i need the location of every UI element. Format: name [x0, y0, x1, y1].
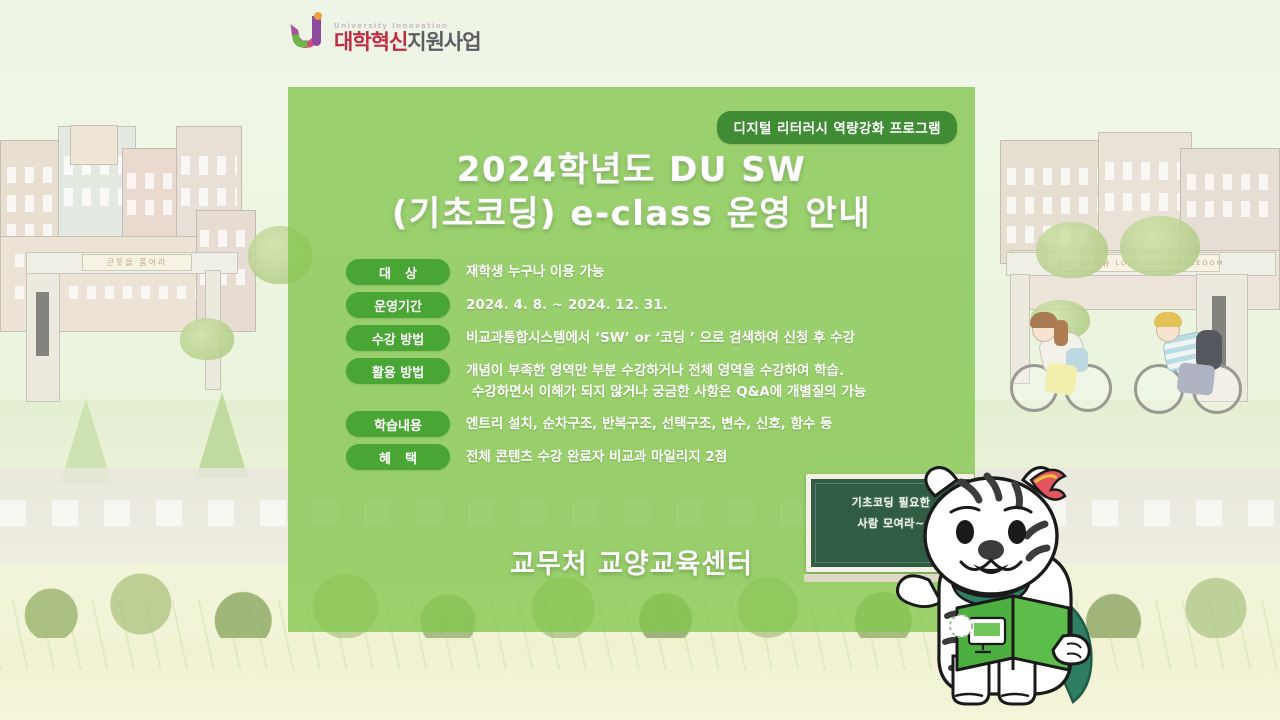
info-table: 대상재학생 누구나 이용 가능운영기간2024. 4. 8. ~ 2024. 1…	[346, 259, 946, 477]
logo-text: University Innovation 대학혁신지원사업	[334, 23, 481, 54]
info-row-value-line: 재학생 누구나 이용 가능	[466, 262, 946, 283]
logo-title-red: 대학혁신	[334, 30, 407, 54]
info-row-value: 비교과통합시스템에서 ‘SW’ or ‘코딩 ’ 으로 검색하여 신청 후 수강	[450, 325, 946, 349]
info-row-value: 2024. 4. 8. ~ 2024. 12. 31.	[450, 292, 946, 316]
title-line-1: 2024학년도 DU SW	[288, 149, 975, 193]
info-row: 학습내용엔트리 설치, 순차구조, 반복구조, 선택구조, 변수, 신호, 함수…	[346, 411, 946, 437]
university-innovation-logo: University Innovation 대학혁신지원사업	[292, 14, 481, 54]
info-row-label: 학습내용	[346, 411, 450, 437]
tiger-mascot	[895, 440, 1135, 720]
logo-title: 대학혁신지원사업	[334, 32, 481, 53]
program-badge-row: 디지털 리터러시 역량강화 프로그램	[717, 111, 957, 144]
info-row-label: 수강 방법	[346, 325, 450, 351]
info-row: 운영기간2024. 4. 8. ~ 2024. 12. 31.	[346, 292, 946, 318]
title-line-2: (기초코딩) e-class 운영 안내	[288, 193, 975, 237]
info-row-label: 운영기간	[346, 292, 450, 318]
info-row-label: 대상	[346, 259, 450, 285]
info-row-value-line: 수강하면서 이해가 되지 않거나 궁금한 사항은 Q&A에 개별질의 가능	[466, 382, 946, 403]
info-row: 수강 방법비교과통합시스템에서 ‘SW’ or ‘코딩 ’ 으로 검색하여 신청…	[346, 325, 946, 351]
cyclist-left	[1010, 300, 1120, 420]
left-gate-sign: 큰뜻을 품어라	[82, 254, 192, 271]
info-row-value-line: 엔트리 설치, 순차구조, 반복구조, 선택구조, 변수, 신호, 함수 등	[466, 414, 946, 435]
info-row-value-line: 전체 콘텐츠 수강 완료자 비교과 마일리지 2점	[466, 447, 946, 468]
logo-title-gray: 지원사업	[407, 30, 480, 54]
logo-subtitle: University Innovation	[334, 23, 481, 30]
info-row: 혜택전체 콘텐츠 수강 완료자 비교과 마일리지 2점	[346, 444, 946, 470]
info-row: 대상재학생 누구나 이용 가능	[346, 259, 946, 285]
background-top-band	[0, 0, 1280, 72]
info-row-value-line: 개념이 부족한 영역만 부분 수강하거나 전체 영역을 수강하여 학습.	[466, 361, 946, 382]
info-row-value: 재학생 누구나 이용 가능	[450, 259, 946, 283]
info-row-value-line: 2024. 4. 8. ~ 2024. 12. 31.	[466, 295, 946, 316]
info-row-value: 전체 콘텐츠 수강 완료자 비교과 마일리지 2점	[450, 444, 946, 468]
info-row-value: 개념이 부족한 영역만 부분 수강하거나 전체 영역을 수강하여 학습.수강하면…	[450, 358, 946, 402]
program-badge: 디지털 리터러시 역량강화 프로그램	[717, 111, 957, 144]
info-row-label: 활용 방법	[346, 358, 450, 384]
info-row-value: 엔트리 설치, 순차구조, 반복구조, 선택구조, 변수, 신호, 함수 등	[450, 411, 946, 435]
logo-mark-icon	[292, 14, 328, 54]
poster-canvas: 큰뜻을 품어라 사랑 빛 자유 LOVE LIGHT FREEDOM	[0, 0, 1280, 720]
info-row-label: 혜택	[346, 444, 450, 470]
info-row: 활용 방법개념이 부족한 영역만 부분 수강하거나 전체 영역을 수강하여 학습…	[346, 358, 946, 402]
info-row-value-line: 비교과통합시스템에서 ‘SW’ or ‘코딩 ’ 으로 검색하여 신청 후 수강	[466, 328, 946, 349]
poster-title: 2024학년도 DU SW (기초코딩) e-class 운영 안내	[288, 149, 975, 236]
cyclist-right	[1134, 302, 1254, 424]
